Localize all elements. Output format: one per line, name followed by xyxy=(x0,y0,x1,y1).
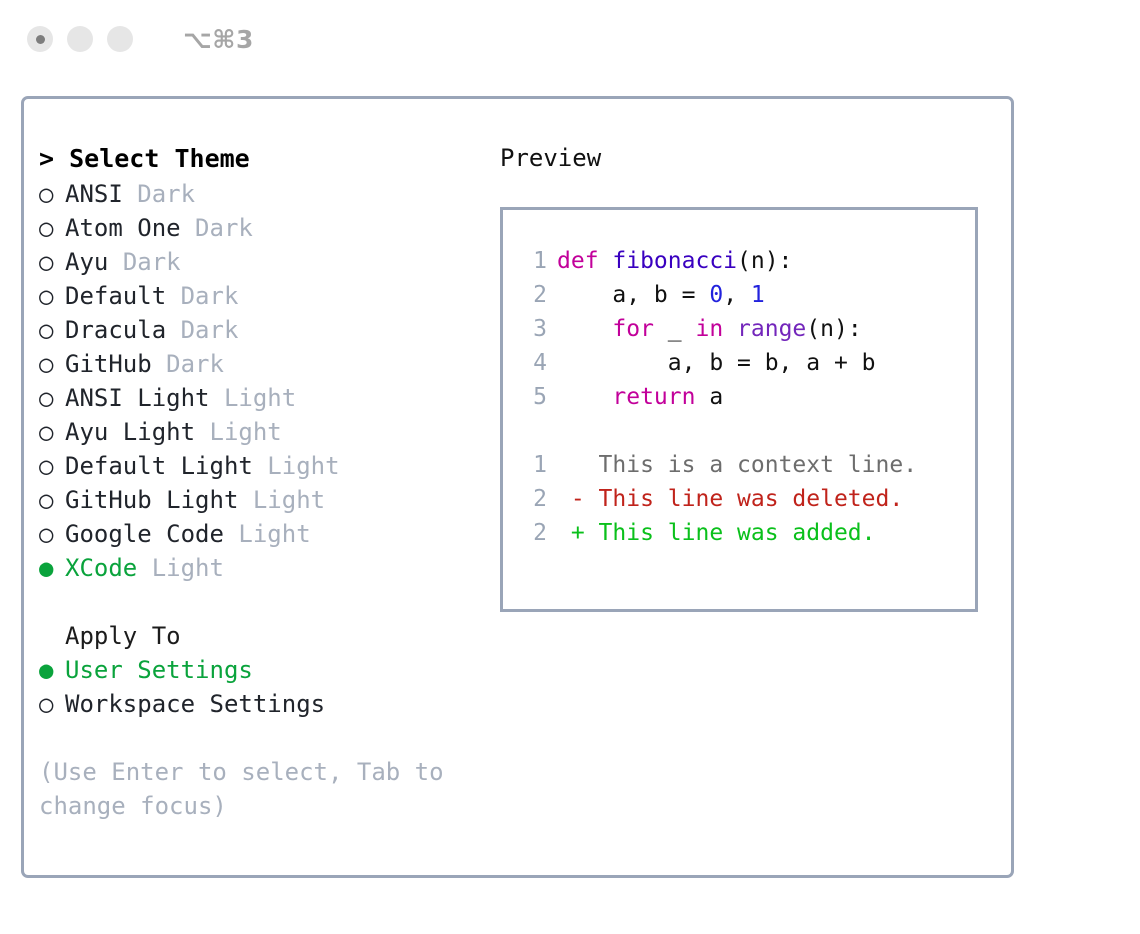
radio-unselected-icon: ○ xyxy=(39,517,65,551)
theme-name-label: Default xyxy=(65,282,166,310)
theme-name-label: XCode xyxy=(65,554,137,582)
spacer xyxy=(195,418,209,446)
theme-list-item[interactable]: ○Google Code Light xyxy=(39,517,489,551)
apply-to-option[interactable]: ○Workspace Settings xyxy=(39,687,489,721)
code-token-num: 0 xyxy=(709,282,723,308)
code-line: 1def fibonacci(n): xyxy=(503,244,975,278)
apply-to-option[interactable]: ●User Settings xyxy=(39,653,489,687)
line-number: 1 xyxy=(517,244,547,278)
apply-to-title: Apply To xyxy=(39,619,489,653)
apply-to-options[interactable]: ●User Settings○Workspace Settings xyxy=(39,653,489,721)
code-token-plain: (n): xyxy=(737,248,792,274)
theme-kind-badge: Light xyxy=(253,486,325,514)
diff-line: 2 - This line was deleted. xyxy=(503,482,975,516)
theme-name-label: Ayu xyxy=(65,248,108,276)
spacer xyxy=(253,452,267,480)
spacer xyxy=(152,350,166,378)
apply-to-option-label: Workspace Settings xyxy=(65,690,325,718)
theme-name-label: ANSI xyxy=(65,180,123,208)
code-line: 5 return a xyxy=(503,380,975,414)
main-panel: > Select Theme ○ANSI Dark○Atom One Dark○… xyxy=(21,96,1014,878)
theme-kind-badge: Dark xyxy=(181,316,239,344)
radio-unselected-icon: ○ xyxy=(39,313,65,347)
theme-kind-badge: Light xyxy=(152,554,224,582)
theme-picker-column: > Select Theme ○ANSI Dark○Atom One Dark○… xyxy=(39,141,489,823)
code-token-kw: in xyxy=(695,316,723,342)
theme-kind-badge: Dark xyxy=(137,180,195,208)
radio-unselected-icon: ○ xyxy=(39,245,65,279)
line-number: 2 xyxy=(517,482,547,516)
theme-list-item[interactable]: ○ANSI Light Light xyxy=(39,381,489,415)
spacer xyxy=(166,282,180,310)
code-line: 3 for _ in range(n): xyxy=(503,312,975,346)
line-number: 3 xyxy=(517,312,547,346)
theme-list-item[interactable]: ○Ayu Dark xyxy=(39,245,489,279)
radio-unselected-icon: ○ xyxy=(39,449,65,483)
theme-name-label: ANSI Light xyxy=(65,384,210,412)
code-token-builtin: range xyxy=(737,316,806,342)
apply-to-section: Apply To ●User Settings○Workspace Settin… xyxy=(39,619,489,721)
radio-unselected-icon: ○ xyxy=(39,347,65,381)
radio-unselected-icon: ○ xyxy=(39,211,65,245)
theme-list-item[interactable]: ○Dracula Dark xyxy=(39,313,489,347)
theme-kind-badge: Light xyxy=(210,418,282,446)
spacer xyxy=(123,180,137,208)
select-theme-header: > Select Theme xyxy=(39,141,489,177)
preview-spacer xyxy=(503,414,975,448)
minimize-button[interactable] xyxy=(67,26,93,52)
code-token-plain xyxy=(723,316,737,342)
spacer xyxy=(224,520,238,548)
diff-text: This line was added. xyxy=(585,520,876,546)
code-token-plain: a, b = b, a + b xyxy=(557,350,876,376)
code-token-kw: for xyxy=(612,316,654,342)
theme-kind-badge: Dark xyxy=(166,350,224,378)
keyboard-shortcut-label: ⌥⌘3 xyxy=(183,25,254,54)
theme-name-label: GitHub Light xyxy=(65,486,238,514)
keyboard-hint-text: (Use Enter to select, Tab to change focu… xyxy=(39,755,459,823)
code-line: 2 a, b = 0, 1 xyxy=(503,278,975,312)
spacer xyxy=(137,554,151,582)
line-number: 2 xyxy=(517,516,547,550)
theme-kind-badge: Dark xyxy=(123,248,181,276)
code-token-fn: fibonacci xyxy=(612,248,737,274)
code-token-num: 1 xyxy=(751,282,765,308)
apply-to-option-label: User Settings xyxy=(65,656,253,684)
close-button-dot xyxy=(36,35,45,44)
code-token-plain xyxy=(557,384,612,410)
spacer xyxy=(210,384,224,412)
line-number: 5 xyxy=(517,380,547,414)
radio-unselected-icon: ○ xyxy=(39,687,65,721)
diff-marker: + xyxy=(557,520,585,546)
line-number: 4 xyxy=(517,346,547,380)
code-sample: 1def fibonacci(n):2 a, b = 0, 13 for _ i… xyxy=(503,244,975,414)
theme-name-label: Atom One xyxy=(65,214,181,242)
preview-box: 1def fibonacci(n):2 a, b = 0, 13 for _ i… xyxy=(500,207,978,612)
theme-list-item[interactable]: ○Ayu Light Light xyxy=(39,415,489,449)
theme-list-item[interactable]: ●XCode Light xyxy=(39,551,489,585)
diff-line: 1 This is a context line. xyxy=(503,448,975,482)
diff-text: This is a context line. xyxy=(585,452,917,478)
preview-column: Preview 1def fibonacci(n):2 a, b = 0, 13… xyxy=(500,141,1000,612)
code-token-kw: return xyxy=(612,384,695,410)
theme-list-item[interactable]: ○Atom One Dark xyxy=(39,211,489,245)
code-token-plain: a, b = xyxy=(557,282,709,308)
close-button[interactable] xyxy=(27,26,53,52)
theme-list-item[interactable]: ○GitHub Light Light xyxy=(39,483,489,517)
spacer xyxy=(108,248,122,276)
theme-name-label: GitHub xyxy=(65,350,152,378)
radio-selected-icon: ● xyxy=(39,551,65,585)
radio-unselected-icon: ○ xyxy=(39,381,65,415)
diff-marker xyxy=(557,452,585,478)
theme-kind-badge: Light xyxy=(224,384,296,412)
theme-list-item[interactable]: ○ANSI Dark xyxy=(39,177,489,211)
code-token-kw: def xyxy=(557,248,612,274)
panel-body: > Select Theme ○ANSI Dark○Atom One Dark○… xyxy=(24,99,1011,875)
radio-unselected-icon: ○ xyxy=(39,279,65,313)
line-number: 1 xyxy=(517,448,547,482)
theme-list-item[interactable]: ○GitHub Dark xyxy=(39,347,489,381)
app-window: ⌥⌘3 > Select Theme ○ANSI Dark○Atom One D… xyxy=(0,0,1140,934)
theme-kind-badge: Dark xyxy=(195,214,253,242)
spacer xyxy=(238,486,252,514)
diff-marker: - xyxy=(557,486,585,512)
theme-name-label: Default Light xyxy=(65,452,253,480)
line-number: 2 xyxy=(517,278,547,312)
theme-list[interactable]: ○ANSI Dark○Atom One Dark○Ayu Dark○Defaul… xyxy=(39,177,489,585)
radio-unselected-icon: ○ xyxy=(39,483,65,517)
theme-kind-badge: Dark xyxy=(181,282,239,310)
theme-name-label: Dracula xyxy=(65,316,166,344)
theme-list-item[interactable]: ○Default Dark xyxy=(39,279,489,313)
title-bar: ⌥⌘3 xyxy=(0,0,1140,78)
spacer xyxy=(181,214,195,242)
theme-name-label: Google Code xyxy=(65,520,224,548)
spacer xyxy=(166,316,180,344)
code-token-plain xyxy=(557,316,612,342)
code-token-plain: (n): xyxy=(806,316,861,342)
theme-kind-badge: Light xyxy=(267,452,339,480)
diff-sample: 1 This is a context line.2 - This line w… xyxy=(503,448,975,550)
theme-kind-badge: Light xyxy=(238,520,310,548)
radio-selected-icon: ● xyxy=(39,653,65,687)
diff-line: 2 + This line was added. xyxy=(503,516,975,550)
code-line: 4 a, b = b, a + b xyxy=(503,346,975,380)
radio-unselected-icon: ○ xyxy=(39,177,65,211)
maximize-button[interactable] xyxy=(107,26,133,52)
theme-name-label: Ayu Light xyxy=(65,418,195,446)
code-token-plain: _ xyxy=(654,316,696,342)
code-token-plain: , xyxy=(723,282,751,308)
code-token-plain: a xyxy=(695,384,723,410)
radio-unselected-icon: ○ xyxy=(39,415,65,449)
preview-title: Preview xyxy=(500,141,1000,175)
theme-list-item[interactable]: ○Default Light Light xyxy=(39,449,489,483)
diff-text: This line was deleted. xyxy=(585,486,904,512)
